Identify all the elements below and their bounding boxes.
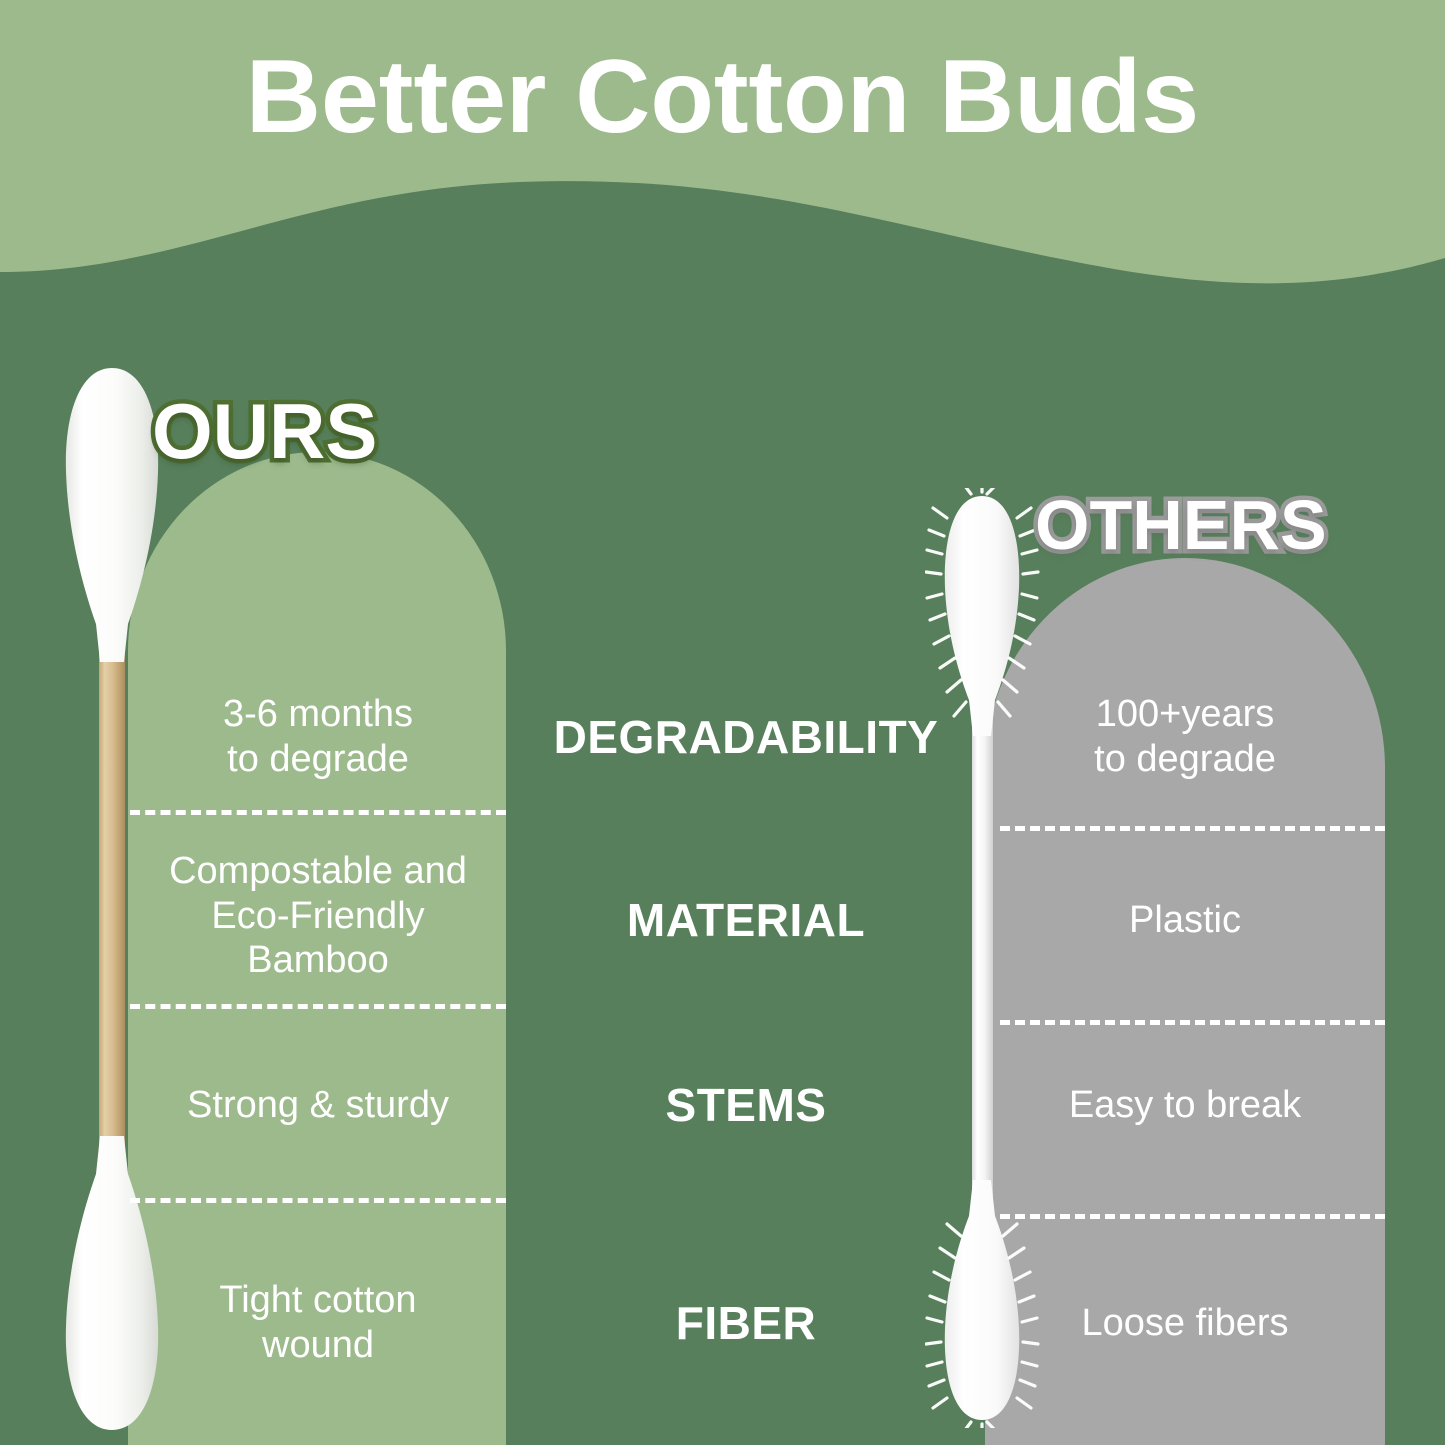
attribute-label-degradability: DEGRADABILITY: [506, 662, 986, 812]
page-title: Better Cotton Buds: [0, 38, 1445, 158]
column-header-ours: OURS: [152, 386, 377, 477]
divider-others-1: [1000, 826, 1385, 831]
cell-others-fiber: Loose fibers: [990, 1248, 1380, 1398]
header-band: Better Cotton Buds: [0, 0, 1445, 300]
cell-ours-degradability: 3-6 monthsto degrade: [132, 662, 504, 812]
cell-ours-material: Compostable andEco-FriendlyBamboo: [132, 826, 504, 1006]
divider-ours-1: [130, 810, 506, 815]
divider-ours-3: [130, 1198, 506, 1203]
divider-ours-2: [130, 1004, 506, 1009]
cell-ours-fiber: Tight cottonwound: [132, 1248, 504, 1398]
cell-others-degradability: 100+yearsto degrade: [990, 662, 1380, 812]
divider-others-2: [1000, 1020, 1385, 1025]
column-header-others: OTHERS: [1035, 485, 1327, 565]
attribute-label-fiber: FIBER: [506, 1248, 986, 1398]
cell-ours-stems: Strong & sturdy: [132, 1040, 504, 1170]
cell-others-material: Plastic: [990, 840, 1380, 1000]
attribute-label-stems: STEMS: [506, 1040, 986, 1170]
cell-others-stems: Easy to break: [990, 1040, 1380, 1170]
infographic-canvas: Better Cotton Buds: [0, 0, 1445, 1445]
attribute-label-material: MATERIAL: [506, 840, 986, 1000]
divider-others-3: [1000, 1214, 1385, 1219]
